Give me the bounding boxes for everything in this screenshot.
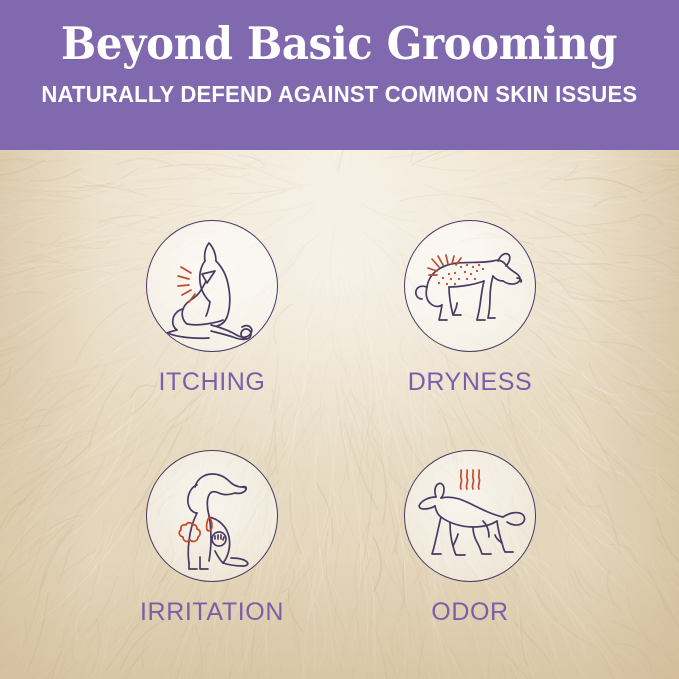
promo-graphic: Beyond Basic Grooming NATURALLY DEFEND A…	[0, 0, 679, 679]
icon-circle-odor	[404, 450, 536, 582]
dog-odor-waves-icon	[405, 451, 536, 582]
benefit-label-odor: ODOR	[320, 598, 620, 627]
page-title: Beyond Basic Grooming	[61, 20, 617, 67]
benefit-item-itching: ITCHING	[62, 220, 362, 397]
benefit-label-dryness: DRYNESS	[320, 368, 620, 397]
benefit-item-dryness: DRYNESS	[320, 220, 620, 397]
icon-circle-dryness	[404, 220, 536, 352]
dog-irritated-patches-icon	[147, 451, 278, 582]
icon-circle-itching	[146, 220, 278, 352]
icon-circle-irritation	[146, 450, 278, 582]
benefit-item-irritation: IRRITATION	[62, 450, 362, 627]
benefit-label-itching: ITCHING	[62, 368, 362, 397]
benefits-grid: ITCHING	[0, 150, 679, 679]
page-subtitle: NATURALLY DEFEND AGAINST COMMON SKIN ISS…	[42, 81, 638, 108]
benefit-item-odor: ODOR	[320, 450, 620, 627]
header-banner: Beyond Basic Grooming NATURALLY DEFEND A…	[0, 0, 679, 150]
dog-scratching-icon	[147, 221, 278, 352]
benefit-label-irritation: IRRITATION	[62, 598, 362, 627]
dog-flaky-skin-icon	[405, 221, 536, 352]
